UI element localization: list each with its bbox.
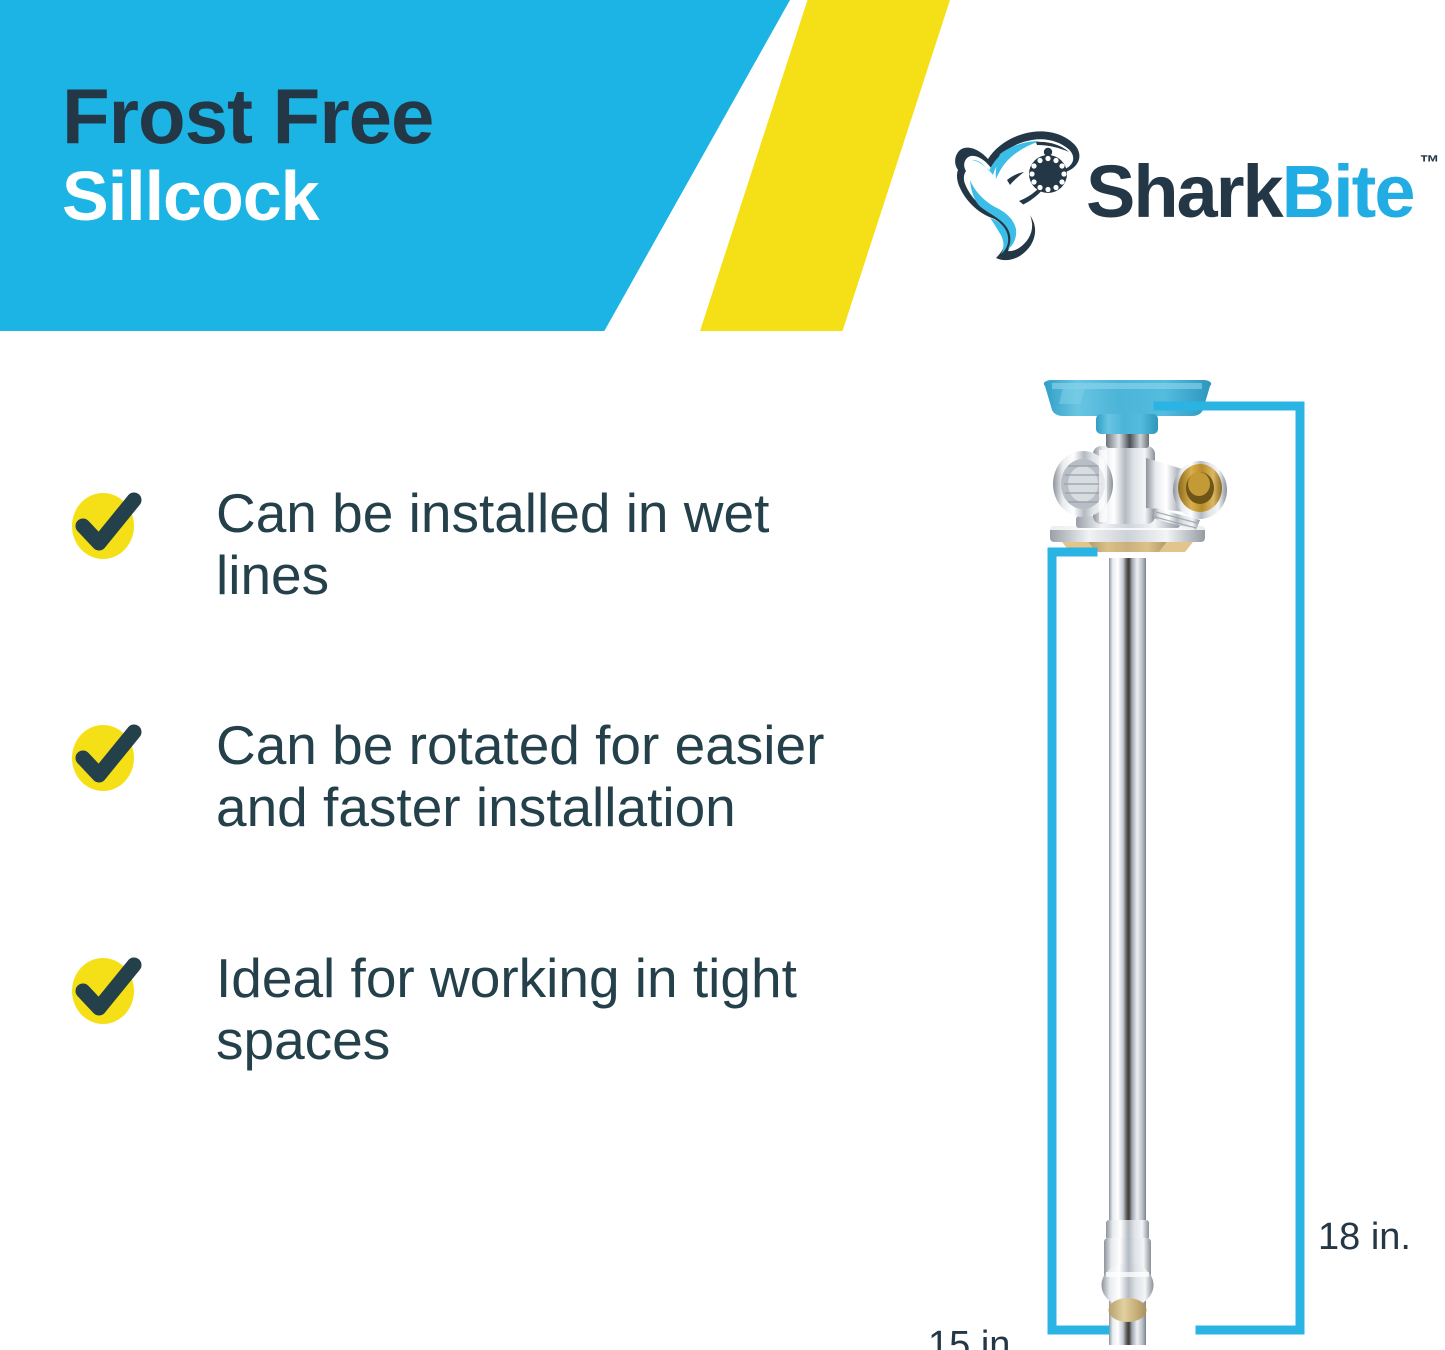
list-item: Can be installed in wet lines xyxy=(70,482,870,606)
brand-logo: SharkBite ™ xyxy=(950,118,1413,266)
dimension-label-inner: 15 in. xyxy=(928,1324,1021,1350)
dimension-bracket-15in xyxy=(1052,552,1105,1330)
product-figure: 15 in. 18 in. xyxy=(900,380,1445,1345)
page-title-group: Frost Free Sillcock xyxy=(62,78,433,234)
trademark-symbol: ™ xyxy=(1419,153,1439,173)
check-circle-icon xyxy=(70,488,140,560)
wordmark-bite: Bite xyxy=(1282,150,1414,233)
feature-list: Can be installed in wet lines Can be rot… xyxy=(70,482,870,1071)
list-item: Ideal for working in tight spaces xyxy=(70,947,870,1071)
page-title-primary: Frost Free xyxy=(62,78,433,154)
infographic-page: Frost Free Sillcock xyxy=(0,0,1445,1350)
dimension-label-outer: 18 in. xyxy=(1318,1216,1411,1259)
wordmark-shark: Shark xyxy=(1086,150,1282,233)
frost-free-sillcock-valve-image xyxy=(900,380,1445,1345)
list-item-label: Ideal for working in tight spaces xyxy=(216,947,870,1071)
brand-wordmark: SharkBite ™ xyxy=(1086,155,1413,229)
list-item-label: Can be installed in wet lines xyxy=(216,482,870,606)
list-item-label: Can be rotated for easier and faster ins… xyxy=(216,714,870,838)
shark-head-icon xyxy=(950,118,1082,266)
check-circle-icon xyxy=(70,720,140,792)
list-item: Can be rotated for easier and faster ins… xyxy=(70,714,870,838)
page-title-secondary: Sillcock xyxy=(62,160,433,234)
check-circle-icon xyxy=(70,953,140,1025)
